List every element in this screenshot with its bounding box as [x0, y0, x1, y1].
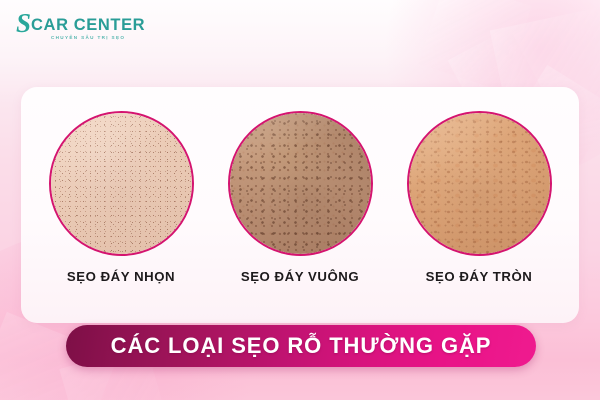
scar-type-caption: SẸO ĐÁY VUÔNG — [241, 269, 359, 284]
scar-types-card: SẸO ĐÁY NHỌN SẸO ĐÁY VUÔNG SẸO ĐÁY TRÒN — [21, 87, 579, 323]
icepick-scar-photo — [49, 111, 194, 256]
skin-shading — [51, 113, 192, 254]
boxcar-scar-photo — [228, 111, 373, 256]
brand-logo: S CAR CENTER CHUYÊN SÂU TRỊ SẸO — [16, 12, 145, 41]
logo-s-mark: S — [16, 10, 30, 37]
logo-tagline: CHUYÊN SÂU TRỊ SẸO — [31, 36, 145, 41]
scar-type-item: SẸO ĐÁY TRÒN — [407, 111, 552, 284]
skin-shading — [409, 113, 550, 254]
poster-canvas: S CAR CENTER CHUYÊN SÂU TRỊ SẸO SẸO ĐÁY … — [0, 0, 600, 400]
headline-text: CÁC LOẠI SẸO RỖ THƯỜNG GẶP — [111, 333, 492, 359]
skin-shading — [230, 113, 371, 254]
scar-type-caption: SẸO ĐÁY NHỌN — [67, 269, 175, 284]
logo-wordmark: CAR CENTER — [31, 17, 145, 34]
rolling-scar-photo — [407, 111, 552, 256]
scar-type-caption: SẸO ĐÁY TRÒN — [426, 269, 533, 284]
scar-types-row: SẸO ĐÁY NHỌN SẸO ĐÁY VUÔNG SẸO ĐÁY TRÒN — [21, 111, 579, 284]
scar-type-item: SẸO ĐÁY VUÔNG — [228, 111, 373, 284]
scar-type-item: SẸO ĐÁY NHỌN — [49, 111, 194, 284]
headline-banner: CÁC LOẠI SẸO RỖ THƯỜNG GẶP — [66, 325, 536, 367]
